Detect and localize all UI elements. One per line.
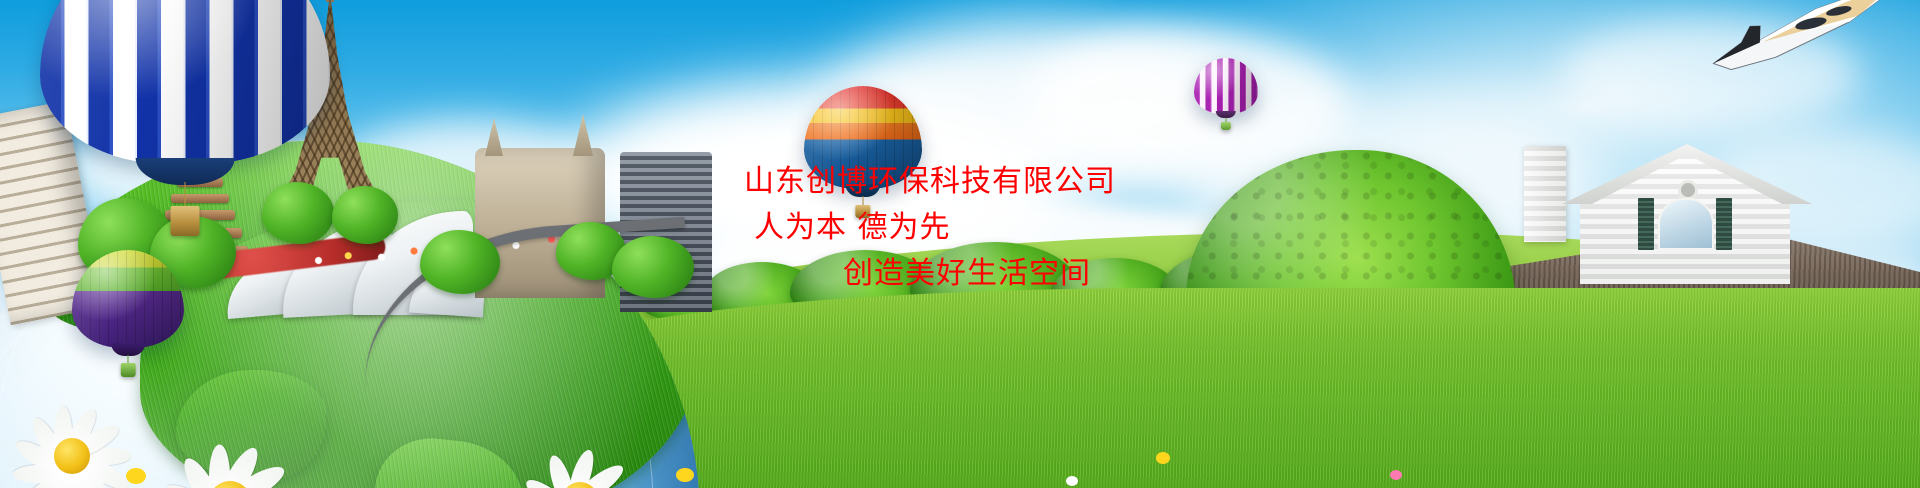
- balloon-envelope: [72, 250, 184, 348]
- balloon-rope: [185, 182, 186, 208]
- house-window: [1658, 198, 1714, 250]
- meadow-flower: [1390, 470, 1402, 480]
- globe-continent-peninsula: [360, 433, 530, 488]
- meadow-flower: [676, 468, 694, 482]
- balloon-skirt: [136, 158, 235, 185]
- mini-tree: [612, 236, 694, 298]
- balloon-envelope: [1194, 58, 1258, 114]
- meadow-flower: [1066, 476, 1078, 486]
- meadow-flower: [1156, 452, 1170, 464]
- daisy-center: [54, 438, 90, 474]
- balloon-basket: [121, 363, 136, 377]
- slogan-line-3-text: 创造美好生活空间: [843, 248, 1091, 292]
- balloon-shading: [72, 250, 184, 348]
- hot-air-balloon-purple: [1194, 58, 1258, 130]
- house-gable-vent: [1678, 180, 1698, 200]
- daisy-flower: [12, 396, 132, 488]
- house-chimney: [1524, 146, 1566, 242]
- hot-air-balloon-green-purple: [72, 250, 184, 376]
- house-shutter: [1716, 198, 1732, 250]
- daisy-flower: [160, 432, 300, 488]
- balloon-shading: [1194, 58, 1258, 114]
- hot-air-balloon-blue-white: [40, 0, 330, 230]
- meadow-flower: [126, 468, 146, 484]
- balloon-basket: [171, 206, 200, 236]
- daisy-flower: [520, 440, 640, 488]
- balloon-shading: [40, 0, 330, 164]
- mini-tree: [420, 230, 500, 294]
- house-shutter: [1638, 198, 1654, 250]
- mini-tree: [332, 186, 398, 244]
- company-hero-banner: 山东创博环保科技有限公司 人为本 德为先 创造美好生活空间: [0, 0, 1920, 488]
- company-name-text: 山东创博环保科技有限公司: [744, 156, 1116, 200]
- balloon-envelope: [40, 0, 330, 164]
- balloon-basket: [1221, 122, 1231, 130]
- slogan-line-2-text: 人为本 德为先: [754, 202, 951, 246]
